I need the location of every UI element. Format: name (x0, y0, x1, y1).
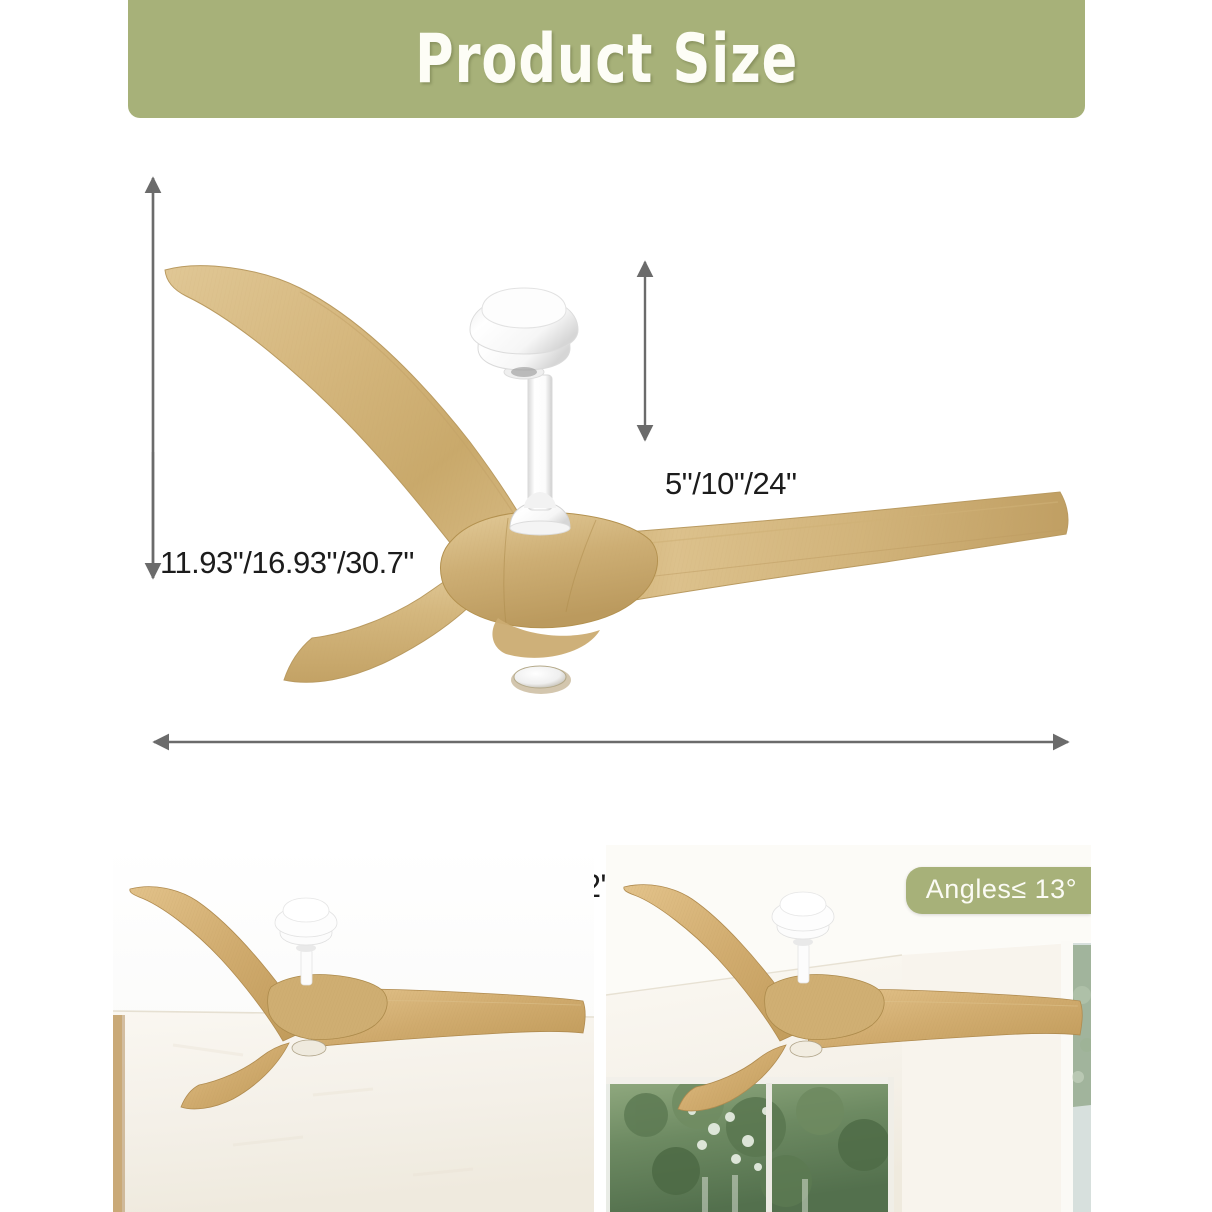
photo-fan-near-window[interactable]: Angles≤ 13° (606, 845, 1091, 1212)
fan-diagram-area: 11.93"/16.93"/30.7" 5"/10"/24" 52" (0, 120, 1212, 830)
downrod-dimension-label: 5"/10"/24" (665, 466, 796, 502)
photo-fan-on-white-ceiling[interactable] (113, 845, 594, 1212)
height-dimension-label: 11.93"/16.93"/30.7" (160, 545, 414, 581)
dimension-lines (0, 120, 1212, 830)
page-title: Product Size (415, 18, 798, 94)
header-banner: Product Size (128, 0, 1085, 118)
photo-left-scene (113, 845, 594, 1212)
lifestyle-photo-strip: Angles≤ 13° (0, 845, 1212, 1212)
product-size-infographic: Product Size (0, 0, 1212, 1212)
angle-badge: Angles≤ 13° (906, 867, 1091, 914)
